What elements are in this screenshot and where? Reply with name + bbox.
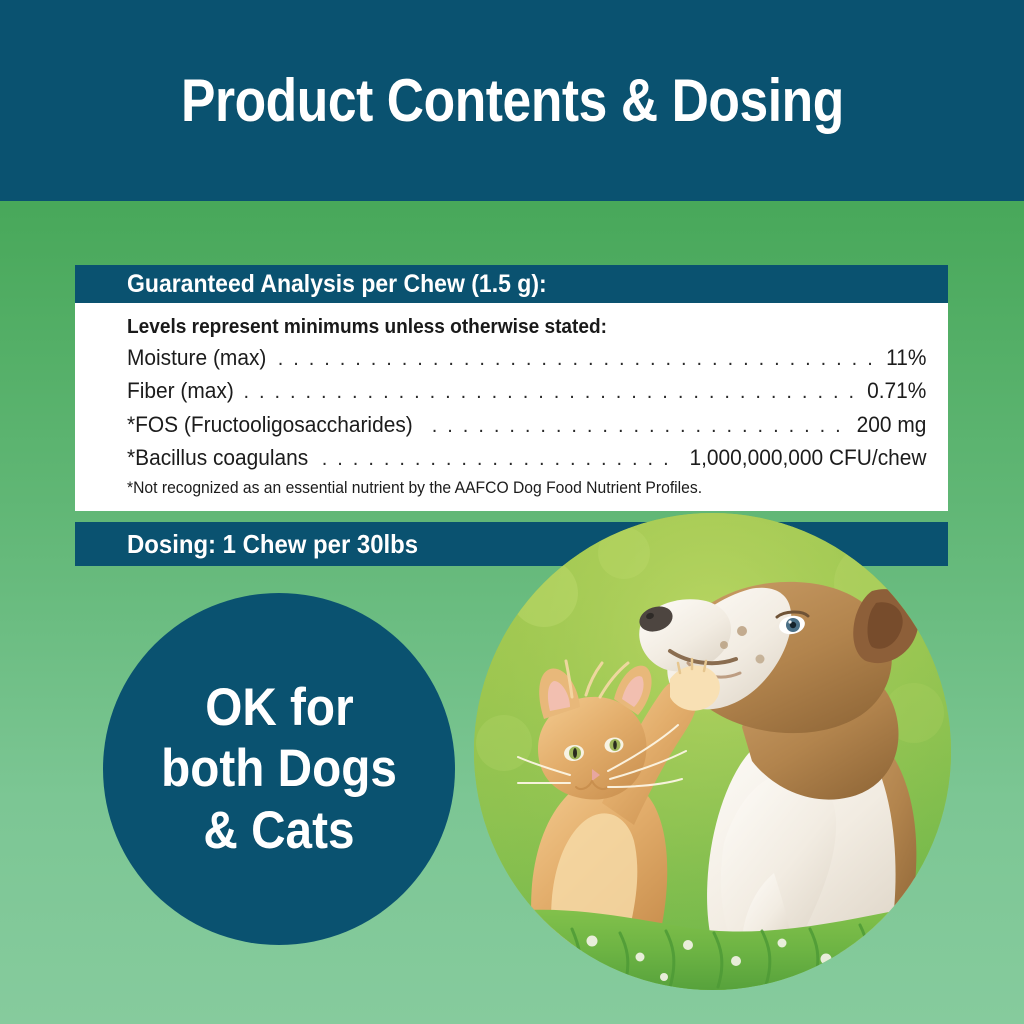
analysis-body: Levels represent minimums unless otherwi… bbox=[75, 303, 948, 511]
dot-leader: . . . . . . . . . . . . . . . . . . . . … bbox=[243, 381, 861, 405]
nutrient-value: 1,000,000,000 CFU/chew bbox=[689, 445, 926, 471]
header-band: Product Contents & Dosing bbox=[0, 0, 1024, 201]
photo-illustration bbox=[474, 513, 951, 990]
nutrient-value: 200 mg bbox=[856, 412, 926, 438]
analysis-footnote: *Not recognized as an essential nutrient… bbox=[127, 479, 886, 499]
nutrient-value: 11% bbox=[886, 345, 926, 371]
analysis-header-bar: Guaranteed Analysis per Chew (1.5 g): bbox=[75, 265, 948, 303]
table-row: Moisture (max) . . . . . . . . . . . . .… bbox=[127, 345, 926, 372]
badge-line-1: OK for bbox=[205, 680, 353, 736]
dot-leader: . . . . . . . . . . . . . . . . . . . . … bbox=[278, 348, 882, 372]
dosing-label: Dosing: 1 Chew per 30lbs bbox=[127, 531, 418, 557]
nutrient-name: Fiber (max) bbox=[127, 378, 234, 404]
nutrient-value: 0.71% bbox=[867, 378, 926, 404]
dot-leader: . . . . . . . . . . . . . . . . . . . . … bbox=[322, 448, 675, 472]
badge-line-2: both Dogs bbox=[161, 741, 397, 797]
dog-and-cat-photo bbox=[474, 513, 951, 990]
analysis-header-label: Guaranteed Analysis per Chew (1.5 g): bbox=[127, 272, 547, 297]
nutrient-name: *FOS (Fructooligosaccharides) bbox=[127, 412, 413, 438]
infographic-canvas: Product Contents & Dosing Guaranteed Ana… bbox=[0, 0, 1024, 1024]
nutrient-name: *Bacillus coagulans bbox=[127, 445, 308, 471]
page-title: Product Contents & Dosing bbox=[181, 71, 844, 131]
table-row: Fiber (max) . . . . . . . . . . . . . . … bbox=[127, 378, 926, 405]
analysis-intro-line: Levels represent minimums unless otherwi… bbox=[127, 315, 870, 339]
table-row: *Bacillus coagulans . . . . . . . . . . … bbox=[127, 445, 926, 472]
nutrient-name: Moisture (max) bbox=[127, 345, 266, 371]
badge-line-3: & Cats bbox=[203, 803, 354, 859]
dot-leader: . . . . . . . . . . . . . . . . . . . . … bbox=[432, 415, 851, 439]
ok-for-dogs-and-cats-badge: OK for both Dogs & Cats bbox=[103, 593, 455, 945]
guaranteed-analysis-card: Guaranteed Analysis per Chew (1.5 g): Le… bbox=[75, 265, 948, 511]
table-row: *FOS (Fructooligosaccharides) . . . . . … bbox=[127, 412, 926, 439]
